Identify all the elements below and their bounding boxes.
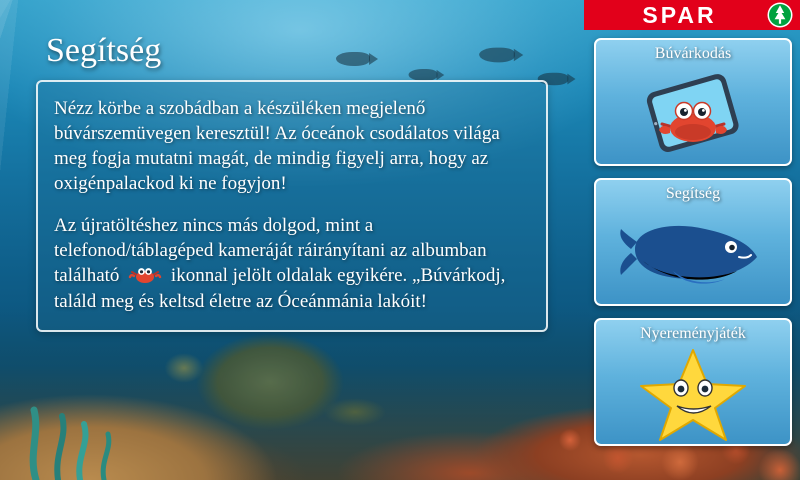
help-paragraph-2-part-b: ikonnal jelölt oldalak egyikére. „Búvárk… — [54, 265, 505, 311]
spar-wordmark: SPAR — [584, 2, 765, 29]
spar-fir-tree-icon — [765, 0, 795, 30]
starfish-icon — [596, 346, 790, 442]
tile-nyeremenyjatek[interactable]: Nyereményjáték — [594, 318, 792, 446]
help-paragraph-1: Nézz körbe a szobádban a készüléken megj… — [54, 96, 530, 196]
phone-with-crab-icon — [596, 66, 790, 162]
tile-buvarkodas-label: Búvárkodás — [596, 45, 790, 63]
tile-segitseg-label: Segítség — [596, 185, 790, 203]
crab-icon — [128, 265, 162, 285]
help-text-box: Nézz körbe a szobádban a készüléken megj… — [36, 80, 548, 332]
help-paragraph-2: Az újratöltéshez nincs más dolgod, mint … — [54, 213, 530, 313]
seagrass — [18, 394, 138, 480]
tile-buvarkodas[interactable]: Búvárkodás — [594, 38, 792, 166]
sea-turtle — [150, 312, 400, 462]
spar-logo: SPAR — [584, 0, 800, 30]
tile-nyeremenyjatek-label: Nyereményjáték — [596, 325, 790, 343]
whale-icon — [596, 206, 790, 302]
menu-tiles: Búvárkodás — [594, 38, 792, 446]
tile-segitseg[interactable]: Segítség — [594, 178, 792, 306]
help-panel: Segítség Nézz körbe a szobádban a készül… — [36, 34, 548, 332]
page-title: Segítség — [46, 34, 548, 68]
app-root: SPAR Segítség Nézz körbe a szobádban a k… — [0, 0, 800, 480]
